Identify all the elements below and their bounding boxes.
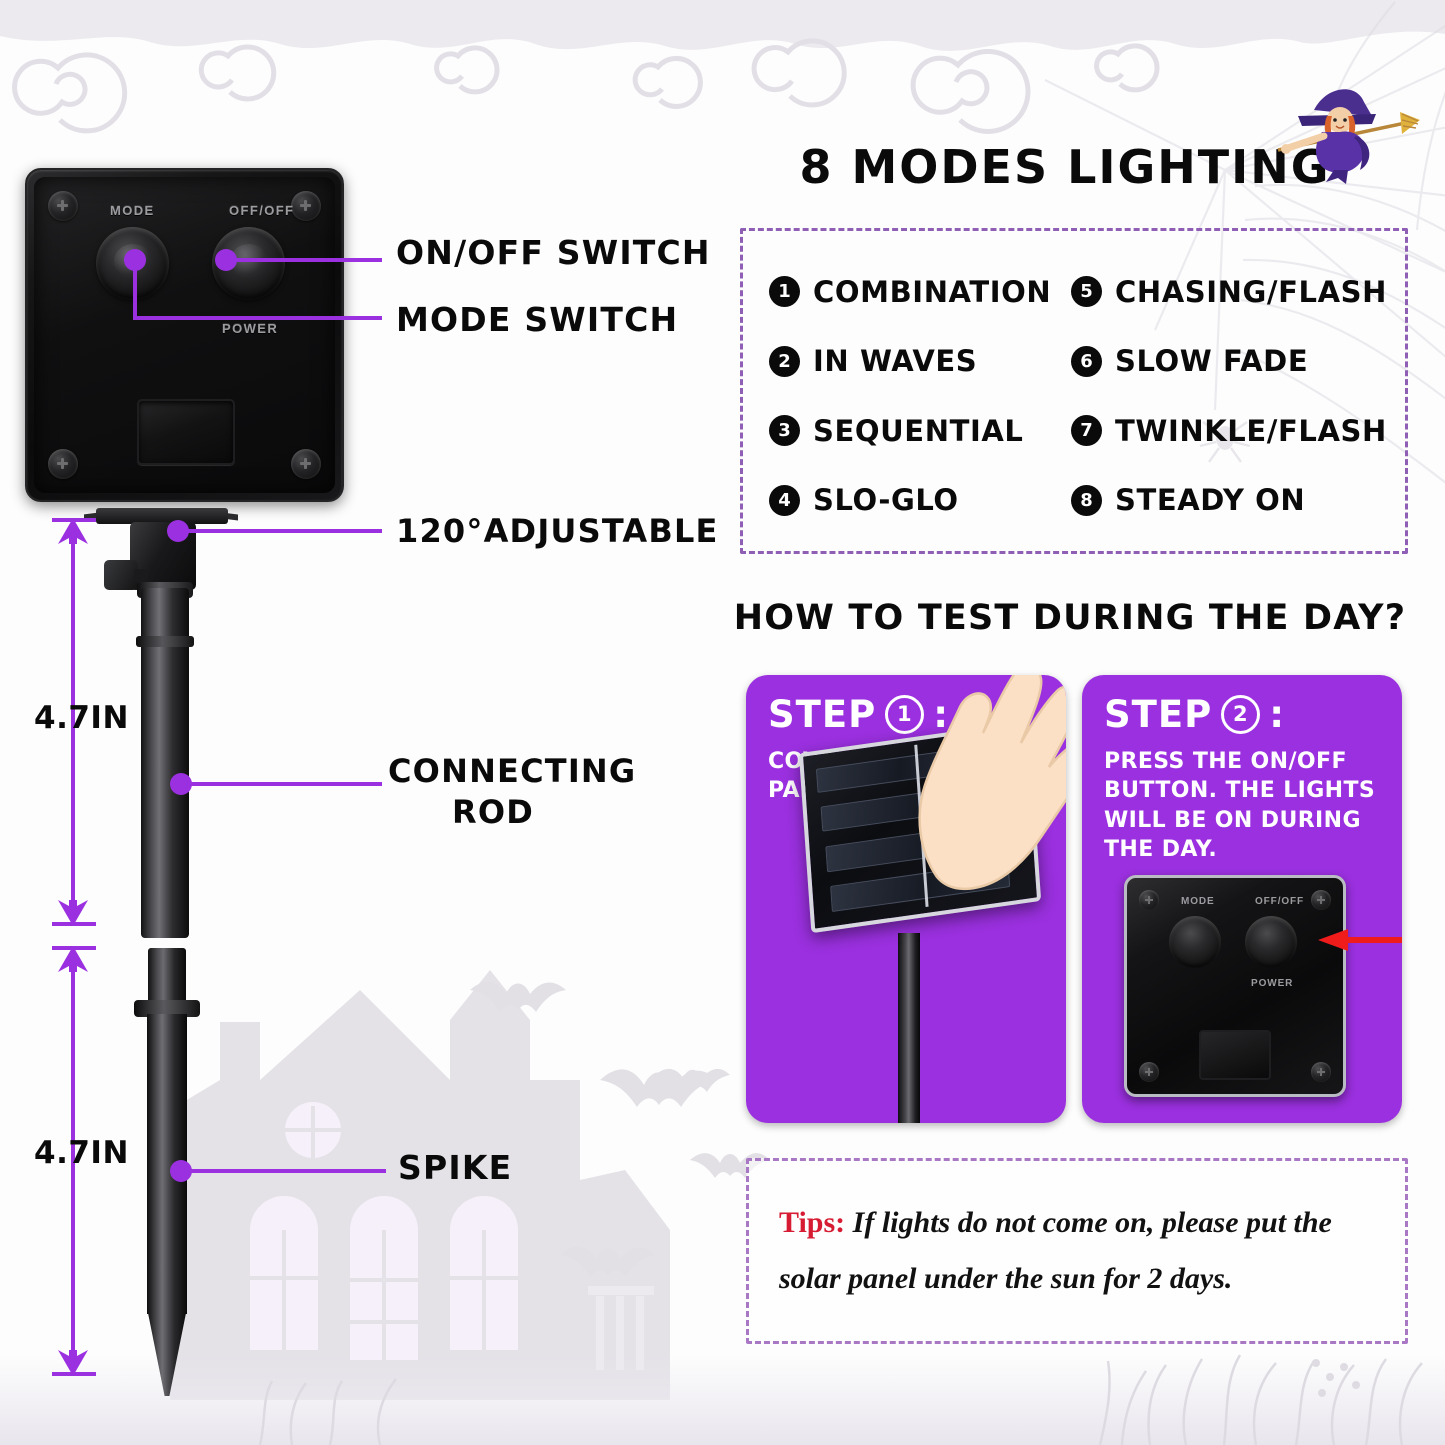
mode-label: COMBINATION <box>813 275 1051 309</box>
arrow-up-icon <box>58 946 88 972</box>
modes-list-box: 1 COMBINATION 5 CHASING/FLASH 2 IN WAVES… <box>740 228 1408 554</box>
modes-grid: 1 COMBINATION 5 CHASING/FLASH 2 IN WAVES… <box>743 231 1405 551</box>
step-card-1: STEP 1 : COVER THE SOLAR PANEL <box>746 675 1066 1123</box>
screw-icon <box>1139 1062 1159 1082</box>
power-text-label: POWER <box>222 321 278 336</box>
step-card-2: STEP 2 : PRESS THE ON/OFF BUTTON. THE LI… <box>1082 675 1402 1123</box>
rod-ring <box>136 636 194 647</box>
mode-label: SLOW FADE <box>1115 344 1308 378</box>
callout-adjustable: 120°ADJUSTABLE <box>396 512 719 550</box>
step-2-number: 2 <box>1221 695 1260 734</box>
mode-number-icon: 1 <box>769 276 800 307</box>
callout-line-rod <box>181 782 382 786</box>
screw-icon <box>291 191 321 221</box>
dimension-label-rod: 4.7IN <box>34 700 129 736</box>
tips-separator: : <box>835 1206 845 1239</box>
step2-mode-label: MODE <box>1181 896 1215 907</box>
mode-number-icon: 2 <box>769 346 800 377</box>
screw-icon <box>48 191 78 221</box>
screw-icon <box>291 449 321 479</box>
mode-label: IN WAVES <box>813 344 977 378</box>
callout-line-adjustable <box>178 529 382 533</box>
battery-port <box>137 399 235 465</box>
screw-icon <box>48 449 78 479</box>
red-arrow-icon <box>1318 927 1402 953</box>
mode-label: SEQUENTIAL <box>813 414 1023 448</box>
tightening-knob <box>104 560 138 590</box>
mode-number-icon: 4 <box>769 485 800 516</box>
callout-line-spike <box>181 1169 386 1173</box>
step2-mode-button <box>1169 916 1221 968</box>
callout-line-mode-v <box>133 258 137 320</box>
step2-onoff-label: OFF/OFF <box>1255 896 1304 907</box>
mode-item-3: 3 SEQUENTIAL <box>769 414 1071 448</box>
callout-connecting-rod-line2: ROD <box>452 793 534 831</box>
hand-icon <box>909 675 1066 895</box>
mode-number-icon: 6 <box>1071 346 1102 377</box>
mode-item-4: 4 SLO-GLO <box>769 483 1071 517</box>
mode-item-2: 2 IN WAVES <box>769 344 1071 378</box>
mode-item-8: 8 STEADY ON <box>1071 483 1387 517</box>
mode-text-label: MODE <box>110 203 155 218</box>
step-2-colon: : <box>1269 693 1285 736</box>
spike-tip <box>147 1308 187 1396</box>
step-2-head-text: STEP <box>1104 693 1212 736</box>
mode-label: CHASING/FLASH <box>1115 275 1387 309</box>
mode-number-icon: 7 <box>1071 415 1102 446</box>
screw-icon <box>1311 890 1331 910</box>
callout-connecting-rod-line1: CONNECTING <box>388 752 636 790</box>
mode-item-6: 6 SLOW FADE <box>1071 344 1387 378</box>
step2-control-panel: MODE OFF/OFF POWER <box>1124 875 1346 1097</box>
mode-label: SLO-GLO <box>813 483 959 517</box>
tips-body: If lights do not come on, please put the… <box>779 1206 1332 1295</box>
mode-item-7: 7 TWINKLE/FLASH <box>1071 414 1387 448</box>
step-2-body: PRESS THE ON/OFF BUTTON. THE LIGHTS WILL… <box>1104 747 1386 865</box>
mode-label: STEADY ON <box>1115 483 1305 517</box>
tips-box: Tips: If lights do not come on, please p… <box>746 1158 1408 1344</box>
tips-text: Tips: If lights do not come on, please p… <box>779 1195 1379 1306</box>
solar-control-panel: MODE OFF/OFF POWER <box>25 168 344 502</box>
spike-shaft-top <box>148 948 186 1003</box>
step-1-head-text: STEP <box>768 693 876 736</box>
howto-section-title: HOW TO TEST DURING THE DAY? <box>720 598 1420 638</box>
callout-line-onoff <box>226 258 382 262</box>
dimension-label-spike: 4.7IN <box>34 1135 129 1171</box>
info-column: 8 MODES LIGHTING 1 COMBINATION <box>720 0 1445 1445</box>
tips-lead-label: Tips <box>779 1206 835 1239</box>
step2-power-label: POWER <box>1251 978 1293 989</box>
product-diagram-column: MODE OFF/OFF POWER <box>0 0 720 1445</box>
mode-number-icon: 8 <box>1071 485 1102 516</box>
step-2-heading: STEP 2 : <box>1104 693 1285 736</box>
callout-onoff-switch: ON/OFF SWITCH <box>396 233 711 272</box>
screw-icon <box>1311 1062 1331 1082</box>
mode-number-icon: 3 <box>769 415 800 446</box>
callout-line-mode-h <box>133 316 382 320</box>
mode-item-5: 5 CHASING/FLASH <box>1071 275 1387 309</box>
step2-battery-port <box>1199 1030 1271 1080</box>
step2-onoff-button <box>1245 916 1297 968</box>
callout-spike: SPIKE <box>398 1148 512 1187</box>
mode-item-1: 1 COMBINATION <box>769 275 1071 309</box>
step1-pole <box>898 933 920 1123</box>
screw-icon <box>1139 890 1159 910</box>
onoff-text-label: OFF/OFF <box>229 203 294 218</box>
arrow-up-icon <box>58 518 88 544</box>
mode-number-icon: 5 <box>1071 276 1102 307</box>
control-panel-face: MODE OFF/OFF POWER <box>34 177 335 493</box>
callout-mode-switch: MODE SWITCH <box>396 300 678 339</box>
mode-label: TWINKLE/FLASH <box>1115 414 1387 448</box>
infographic-page: MODE OFF/OFF POWER <box>0 0 1445 1445</box>
witch-on-broom-icon <box>1260 76 1420 186</box>
